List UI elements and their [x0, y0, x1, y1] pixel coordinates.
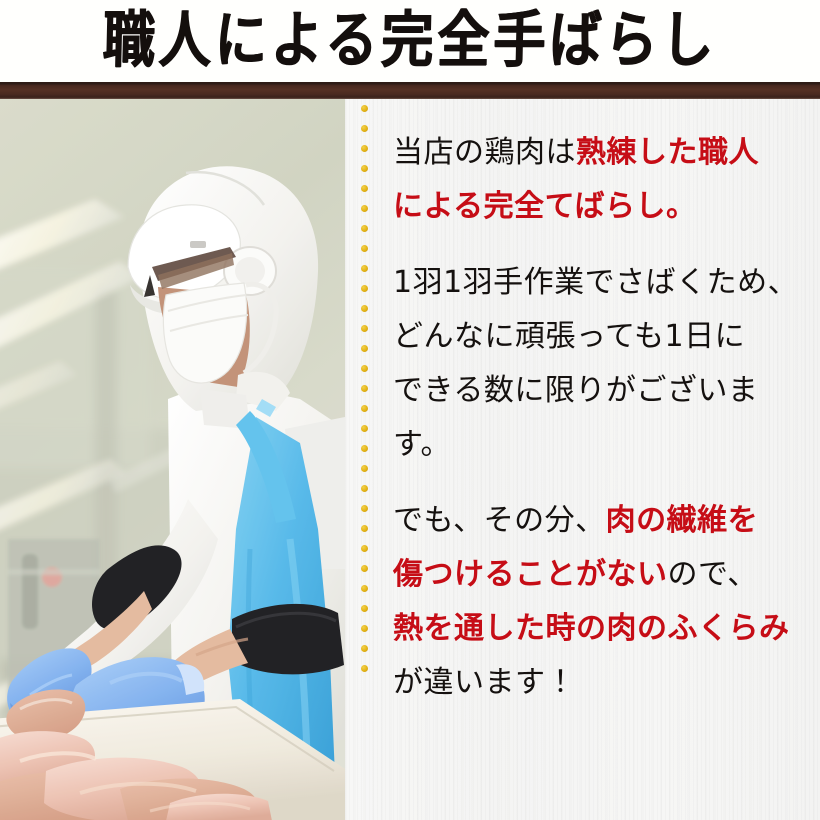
dotted-separator — [360, 99, 368, 820]
p3-l2-seg1: 傷つけることがない — [393, 557, 668, 592]
separator-dot — [361, 125, 368, 132]
separator-dot — [361, 565, 368, 572]
paragraph-1: 当店の鶏肉は熟練した職人 による完全てばらし。 — [393, 126, 813, 234]
p3-l1-seg2: 肉の繊維を — [606, 503, 759, 538]
separator-dot — [361, 245, 368, 252]
separator-dot — [361, 145, 368, 152]
promo-copy: 当店の鶏肉は熟練した職人 による完全てばらし。 1羽1羽手作業でさばくため、 ど… — [393, 126, 813, 710]
separator-dot — [361, 185, 368, 192]
p3-l1-seg1: でも、その分、 — [393, 503, 606, 538]
separator-dot — [361, 365, 368, 372]
separator-dot — [361, 405, 368, 412]
p1-l1-seg2: 熟練した職人 — [576, 135, 759, 170]
separator-dot — [361, 485, 368, 492]
header: 職人による完全手ばらし — [0, 0, 820, 82]
separator-dot — [361, 285, 368, 292]
text-panel: 当店の鶏肉は熟練した職人 による完全てばらし。 1羽1羽手作業でさばくため、 ど… — [345, 99, 820, 820]
separator-dot — [361, 625, 368, 632]
separator-dot — [361, 205, 368, 212]
p3-l3-seg1: 熱を通した時の肉のふくらみ — [393, 611, 790, 646]
separator-dot — [361, 265, 368, 272]
p1-l1-seg1: 当店の鶏肉は — [393, 135, 576, 170]
separator-dot — [361, 665, 368, 672]
page-title: 職人による完全手ばらし — [102, 10, 718, 71]
p2-l2-seg1: どんなに頑張っても1日に — [393, 319, 745, 354]
separator-dot — [361, 585, 368, 592]
p2-l1-seg1: 1羽1羽手作業でさばくため、 — [393, 265, 798, 300]
header-divider-bar — [0, 82, 820, 99]
p3-l2-seg2: ので、 — [668, 557, 758, 592]
separator-dot — [361, 545, 368, 552]
separator-dot — [361, 165, 368, 172]
separator-dot — [361, 345, 368, 352]
separator-dot — [361, 385, 368, 392]
separator-dot — [361, 225, 368, 232]
p2-l3-seg1: できる数に限りがございます。 — [393, 373, 758, 462]
separator-dot — [361, 105, 368, 112]
separator-dot — [361, 305, 368, 312]
separator-dot — [361, 645, 368, 652]
separator-dot — [361, 605, 368, 612]
separator-dot — [361, 525, 368, 532]
p3-l4-seg1: が違います！ — [393, 665, 576, 700]
separator-dot — [361, 445, 368, 452]
separator-dot — [361, 505, 368, 512]
paragraph-3: でも、その分、肉の繊維を 傷つけることがないので、 熱を通した時の肉のふくらみ … — [393, 494, 813, 710]
separator-dot — [361, 465, 368, 472]
separator-dot — [361, 325, 368, 332]
worker-photo — [0, 99, 345, 820]
separator-dot — [361, 425, 368, 432]
paragraph-2: 1羽1羽手作業でさばくため、 どんなに頑張っても1日に できる数に限りがございま… — [393, 256, 813, 472]
p1-l2-seg1: による完全てばらし。 — [393, 189, 697, 224]
promo-banner: 職人による完全手ばらし — [0, 0, 820, 820]
worker-photo-illustration — [0, 99, 345, 820]
